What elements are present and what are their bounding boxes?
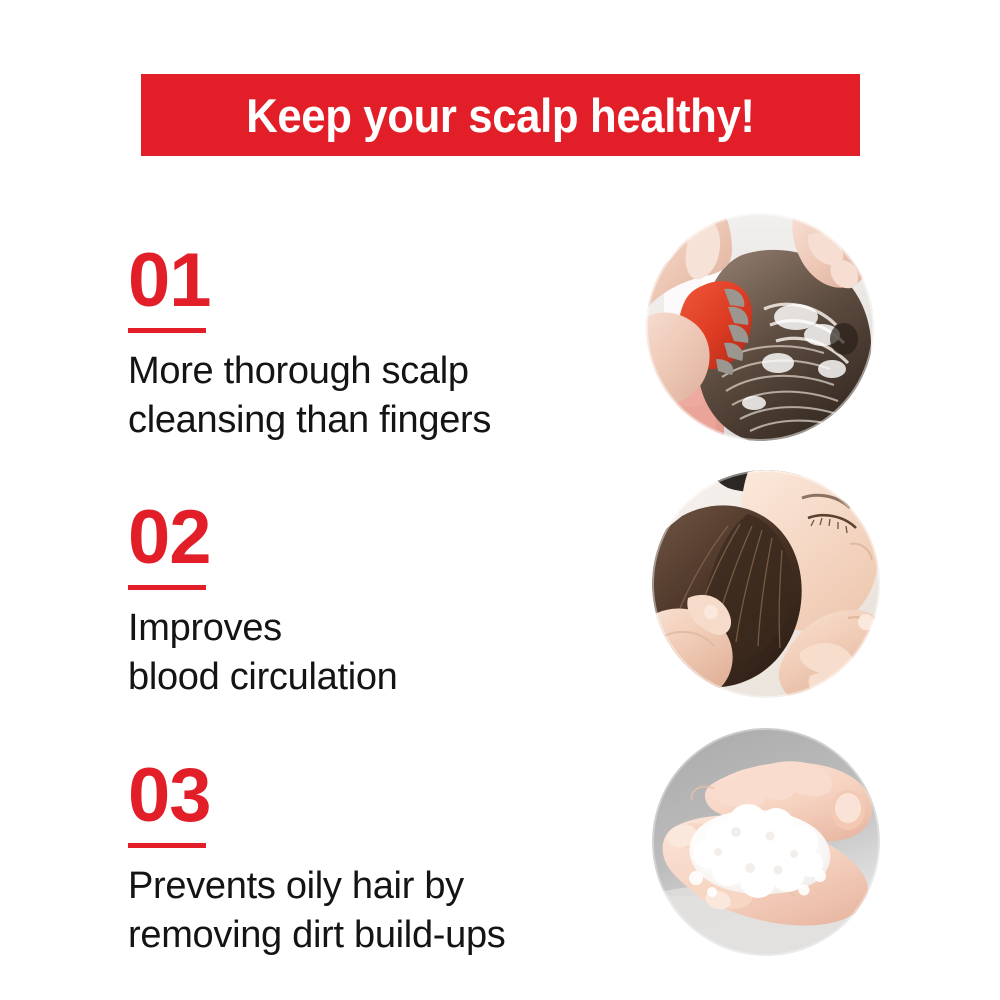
header-banner: Keep your scalp healthy! [141,74,860,156]
benefit-divider-1 [128,328,206,333]
benefit-text-3-line-2: removing dirt build-ups [128,911,628,960]
scalp-brush-photo [646,213,874,441]
benefit-text-2: Improves blood circulation [128,604,628,702]
benefit-number-1: 01 [128,248,628,314]
benefit-photo-3 [652,728,880,956]
benefit-text-3: Prevents oily hair by removing dirt buil… [128,862,628,960]
benefit-photo-1 [646,213,874,441]
benefit-divider-2 [128,585,206,590]
benefit-text-1-line-2: cleansing than fingers [128,396,628,445]
benefit-item-1: 01 More thorough scalp cleansing than fi… [128,248,628,445]
foam-hands-photo [652,728,880,956]
benefit-number-2: 02 [128,505,628,571]
page-title: Keep your scalp healthy! [246,92,754,139]
benefit-item-3: 03 Prevents oily hair by removing dirt b… [128,763,628,960]
benefit-text-3-line-1: Prevents oily hair by [128,862,628,911]
benefit-text-1: More thorough scalp cleansing than finge… [128,347,628,445]
benefit-text-1-line-1: More thorough scalp [128,347,628,396]
benefit-text-2-line-2: blood circulation [128,653,628,702]
benefit-item-2: 02 Improves blood circulation [128,505,628,702]
benefit-photo-2 [652,470,880,698]
benefit-divider-3 [128,843,206,848]
benefit-number-3: 03 [128,763,628,829]
benefit-text-2-line-1: Improves [128,604,628,653]
head-massage-photo [652,470,880,698]
